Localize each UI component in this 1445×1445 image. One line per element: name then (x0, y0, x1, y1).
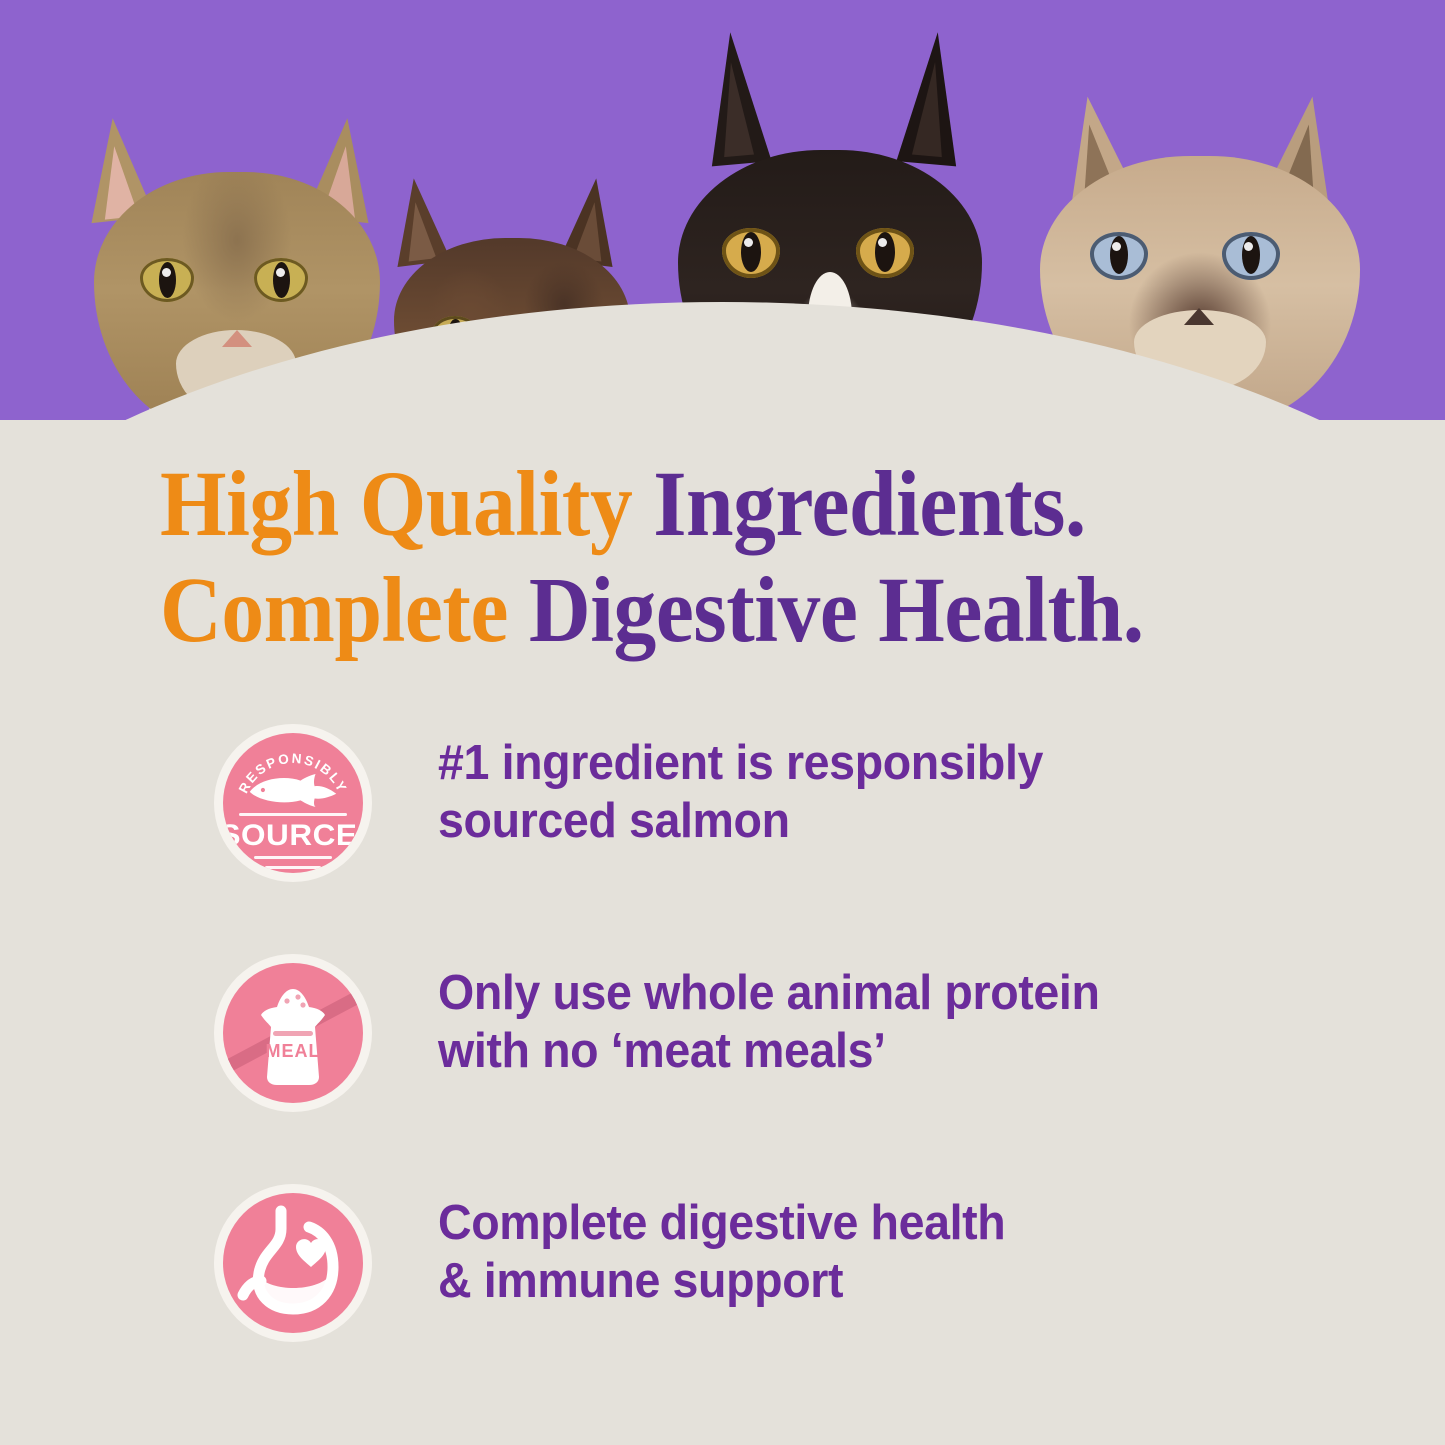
hero-banner (0, 0, 1445, 420)
cat-eye-glint-left (162, 268, 171, 277)
cat-nose (222, 330, 252, 347)
responsibly-sourced-fish-badge-icon: RESPONSIBLY SOURCED (214, 724, 372, 882)
headline-line2-purple: Digestive Health. (529, 559, 1144, 662)
badge-disc: MEAL (223, 963, 363, 1103)
cat-pupil-right (1242, 236, 1260, 274)
badge-rule-bottom-1 (254, 856, 332, 859)
headline-line1-purple: Ingredients. (653, 453, 1086, 556)
cat-pupil-left (1110, 236, 1128, 274)
feature-item-responsibly-sourced: RESPONSIBLY SOURCED #1 ingredient is res… (0, 720, 1445, 950)
cat-eye-glint-right (878, 238, 887, 247)
stomach-icon (237, 1203, 349, 1323)
page-title: High Quality Ingredients. Complete Diges… (160, 452, 1264, 664)
cat-eye-glint-left (744, 238, 753, 247)
cat-eye-glint-right (1244, 242, 1253, 251)
badge-rule-bottom-2 (265, 866, 321, 869)
cat-eye-glint-left (1112, 242, 1121, 251)
product-feature-infographic: High Quality Ingredients. Complete Diges… (0, 0, 1445, 1445)
feature-text: Complete digestive health & immune suppo… (438, 1194, 1005, 1311)
badge-word-label: SOURCED (223, 819, 363, 853)
feature-item-digestive-health: Complete digestive health & immune suppo… (0, 1180, 1445, 1410)
badge-disc: RESPONSIBLY SOURCED (223, 733, 363, 873)
headline-line1-orange: High Quality (160, 453, 653, 556)
feature-text: #1 ingredient is responsibly sourced sal… (438, 734, 1043, 851)
feature-text: Only use whole animal protein with no ‘m… (438, 964, 1100, 1081)
cat-eye-glint-right (276, 268, 285, 277)
cat-nose (1184, 308, 1214, 325)
meal-sack-icon (251, 981, 335, 1087)
badge-disc (223, 1193, 363, 1333)
headline-line2-orange: Complete (160, 559, 529, 662)
badge-word-label (223, 1193, 224, 1194)
stomach-heart-digestive-health-icon (214, 1184, 372, 1342)
badge-word-label: MEAL (223, 1041, 363, 1062)
badge-rule-top (239, 813, 347, 816)
feature-list: RESPONSIBLY SOURCED #1 ingredient is res… (0, 720, 1445, 1410)
feature-item-no-meat-meals: MEAL Only use whole animal protein with … (0, 950, 1445, 1180)
fish-icon (246, 773, 340, 807)
no-meat-meal-sack-icon: MEAL (214, 954, 372, 1112)
